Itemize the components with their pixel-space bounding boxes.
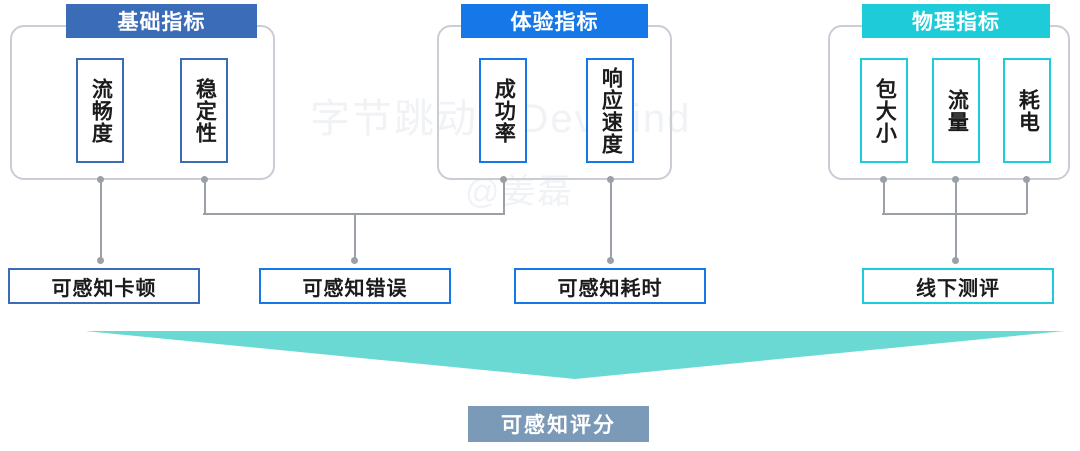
outcome-label-error: 可感知错误 [303, 272, 408, 301]
connector-line-success-rate-down [503, 180, 505, 214]
connector-line-package-size-down [883, 180, 885, 214]
metric-label-traffic: 流量 [945, 89, 968, 133]
metric-label-fluency: 流畅度 [89, 78, 112, 144]
outcome-label-lag: 可感知卡顿 [52, 272, 157, 301]
connector-bus-physical [882, 213, 1026, 215]
connector-dot-fluency-bottom [97, 257, 104, 264]
connector-line-fluency [100, 180, 102, 262]
connector-line-stability-down [204, 180, 206, 214]
funnel-arrow-icon [85, 331, 1065, 379]
group-header-basic-label: 基础指标 [118, 6, 206, 36]
metric-label-success-rate: 成功率 [492, 78, 515, 144]
metric-box-stability: 稳定性 [180, 58, 228, 163]
outcome-box-latency: 可感知耗时 [514, 268, 706, 304]
diagram-canvas: 字节跳动 - DevMind @姜磊 基础指标 流畅度 稳定性 体验指标 成功率… [0, 0, 1080, 451]
outcome-box-error: 可感知错误 [259, 268, 451, 304]
connector-line-power-down [1026, 180, 1028, 214]
connector-dot-latency-bottom [607, 257, 614, 264]
metric-box-traffic: 流量 [932, 58, 980, 163]
outcome-label-latency: 可感知耗时 [558, 272, 663, 301]
connector-dot-offline-eval-bottom [952, 257, 959, 264]
group-card-basic [10, 25, 275, 180]
connector-line-error-drop [354, 213, 356, 262]
group-header-experience-label: 体验指标 [511, 6, 599, 36]
group-header-physical: 物理指标 [862, 4, 1050, 38]
outcome-box-offline-eval: 线下测评 [862, 268, 1054, 304]
metric-box-response-speed: 响应速度 [586, 58, 634, 163]
group-header-basic: 基础指标 [66, 4, 257, 38]
metric-label-response-speed: 响应速度 [599, 67, 622, 155]
group-card-experience [437, 25, 672, 180]
connector-dot-error-bottom [351, 257, 358, 264]
metric-label-package-size: 包大小 [873, 78, 896, 144]
final-score-box: 可感知评分 [468, 406, 649, 442]
metric-label-stability: 稳定性 [193, 78, 216, 144]
group-header-physical-label: 物理指标 [912, 6, 1000, 36]
connector-line-response-speed [610, 180, 612, 262]
connector-line-traffic-down [955, 180, 957, 262]
metric-box-power: 耗电 [1003, 58, 1051, 163]
metric-box-success-rate: 成功率 [479, 58, 527, 163]
final-score-label: 可感知评分 [501, 409, 616, 439]
outcome-box-lag: 可感知卡顿 [8, 268, 200, 304]
group-header-experience: 体验指标 [461, 4, 648, 38]
metric-box-package-size: 包大小 [860, 58, 908, 163]
outcome-label-offline-eval: 线下测评 [916, 272, 1000, 301]
metric-label-power: 耗电 [1016, 89, 1039, 133]
metric-box-fluency: 流畅度 [76, 58, 124, 163]
